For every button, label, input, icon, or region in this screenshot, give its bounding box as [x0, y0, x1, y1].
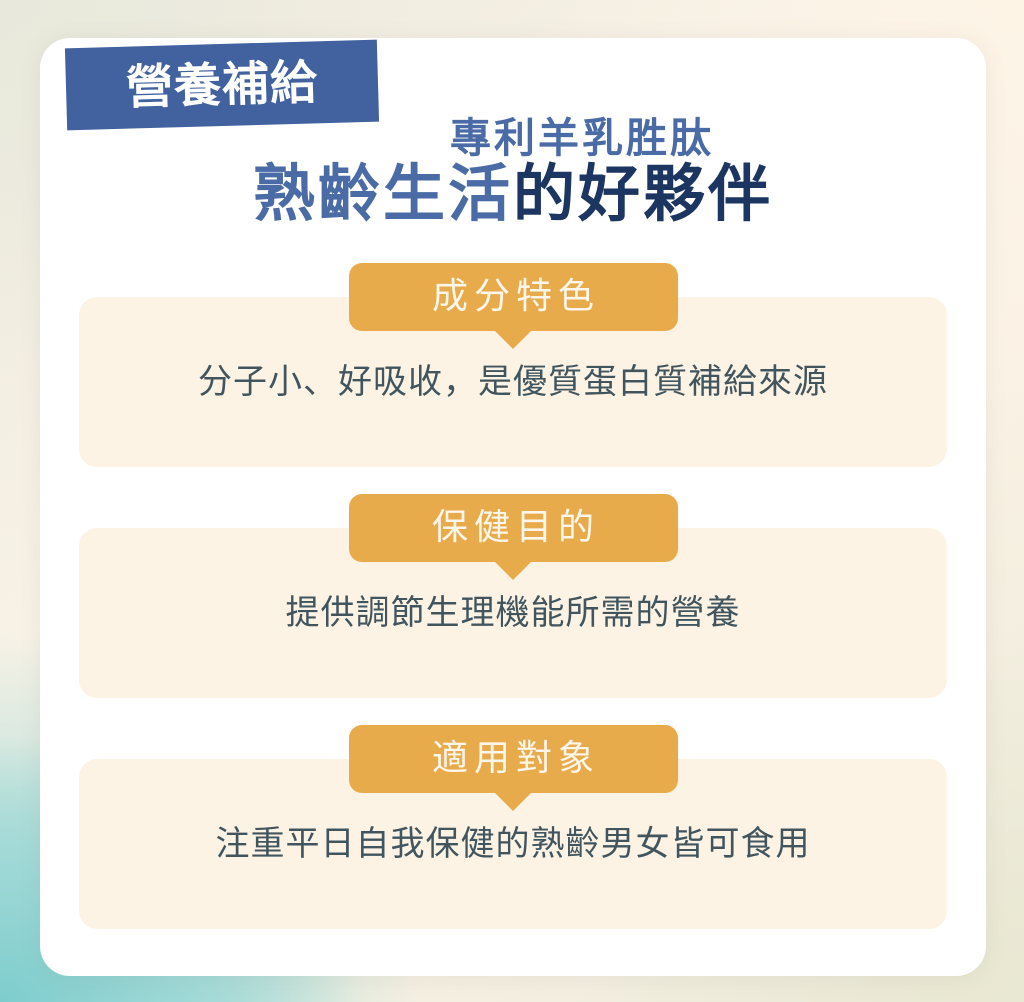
- feature-sections: 成分特色 分子小、好吸收，是優質蛋白質補給來源 保健目的 提供調節生理機能所需的…: [40, 263, 986, 929]
- product-subtitle: 專利羊乳胜肽: [40, 104, 986, 164]
- category-badge-label: 營養補給: [125, 58, 318, 110]
- section-tab-label: 適用對象: [426, 740, 600, 776]
- page-title-rest: 的好夥伴: [513, 160, 773, 229]
- section-tab-ingredient[interactable]: 成分特色: [349, 263, 678, 331]
- feature-section-ingredient: 成分特色 分子小、好吸收，是優質蛋白質補給來源: [40, 263, 986, 467]
- page-title-highlight: 熟齡生活: [253, 160, 513, 229]
- feature-section-audience: 適用對象 注重平日自我保健的熟齡男女皆可食用: [40, 725, 986, 929]
- feature-section-purpose: 保健目的 提供調節生理機能所需的營養: [40, 494, 986, 698]
- info-card: 營養補給 專利羊乳胜肽 熟齡生活的好夥伴 成分特色 分子小、好吸收，是優質蛋白質…: [40, 38, 986, 976]
- section-tab-purpose[interactable]: 保健目的: [349, 494, 678, 562]
- section-tab-audience[interactable]: 適用對象: [349, 725, 678, 793]
- section-body-text: 注重平日自我保健的熟齡男女皆可食用: [192, 822, 835, 866]
- page-title: 熟齡生活的好夥伴: [40, 160, 986, 229]
- card-header: 營養補給 專利羊乳胜肽 熟齡生活的好夥伴: [40, 38, 986, 248]
- section-tab-label: 保健目的: [426, 509, 600, 545]
- section-body-text: 提供調節生理機能所需的營養: [262, 591, 765, 635]
- section-tab-label: 成分特色: [426, 278, 600, 314]
- section-body-text: 分子小、好吸收，是優質蛋白質補給來源: [174, 360, 852, 404]
